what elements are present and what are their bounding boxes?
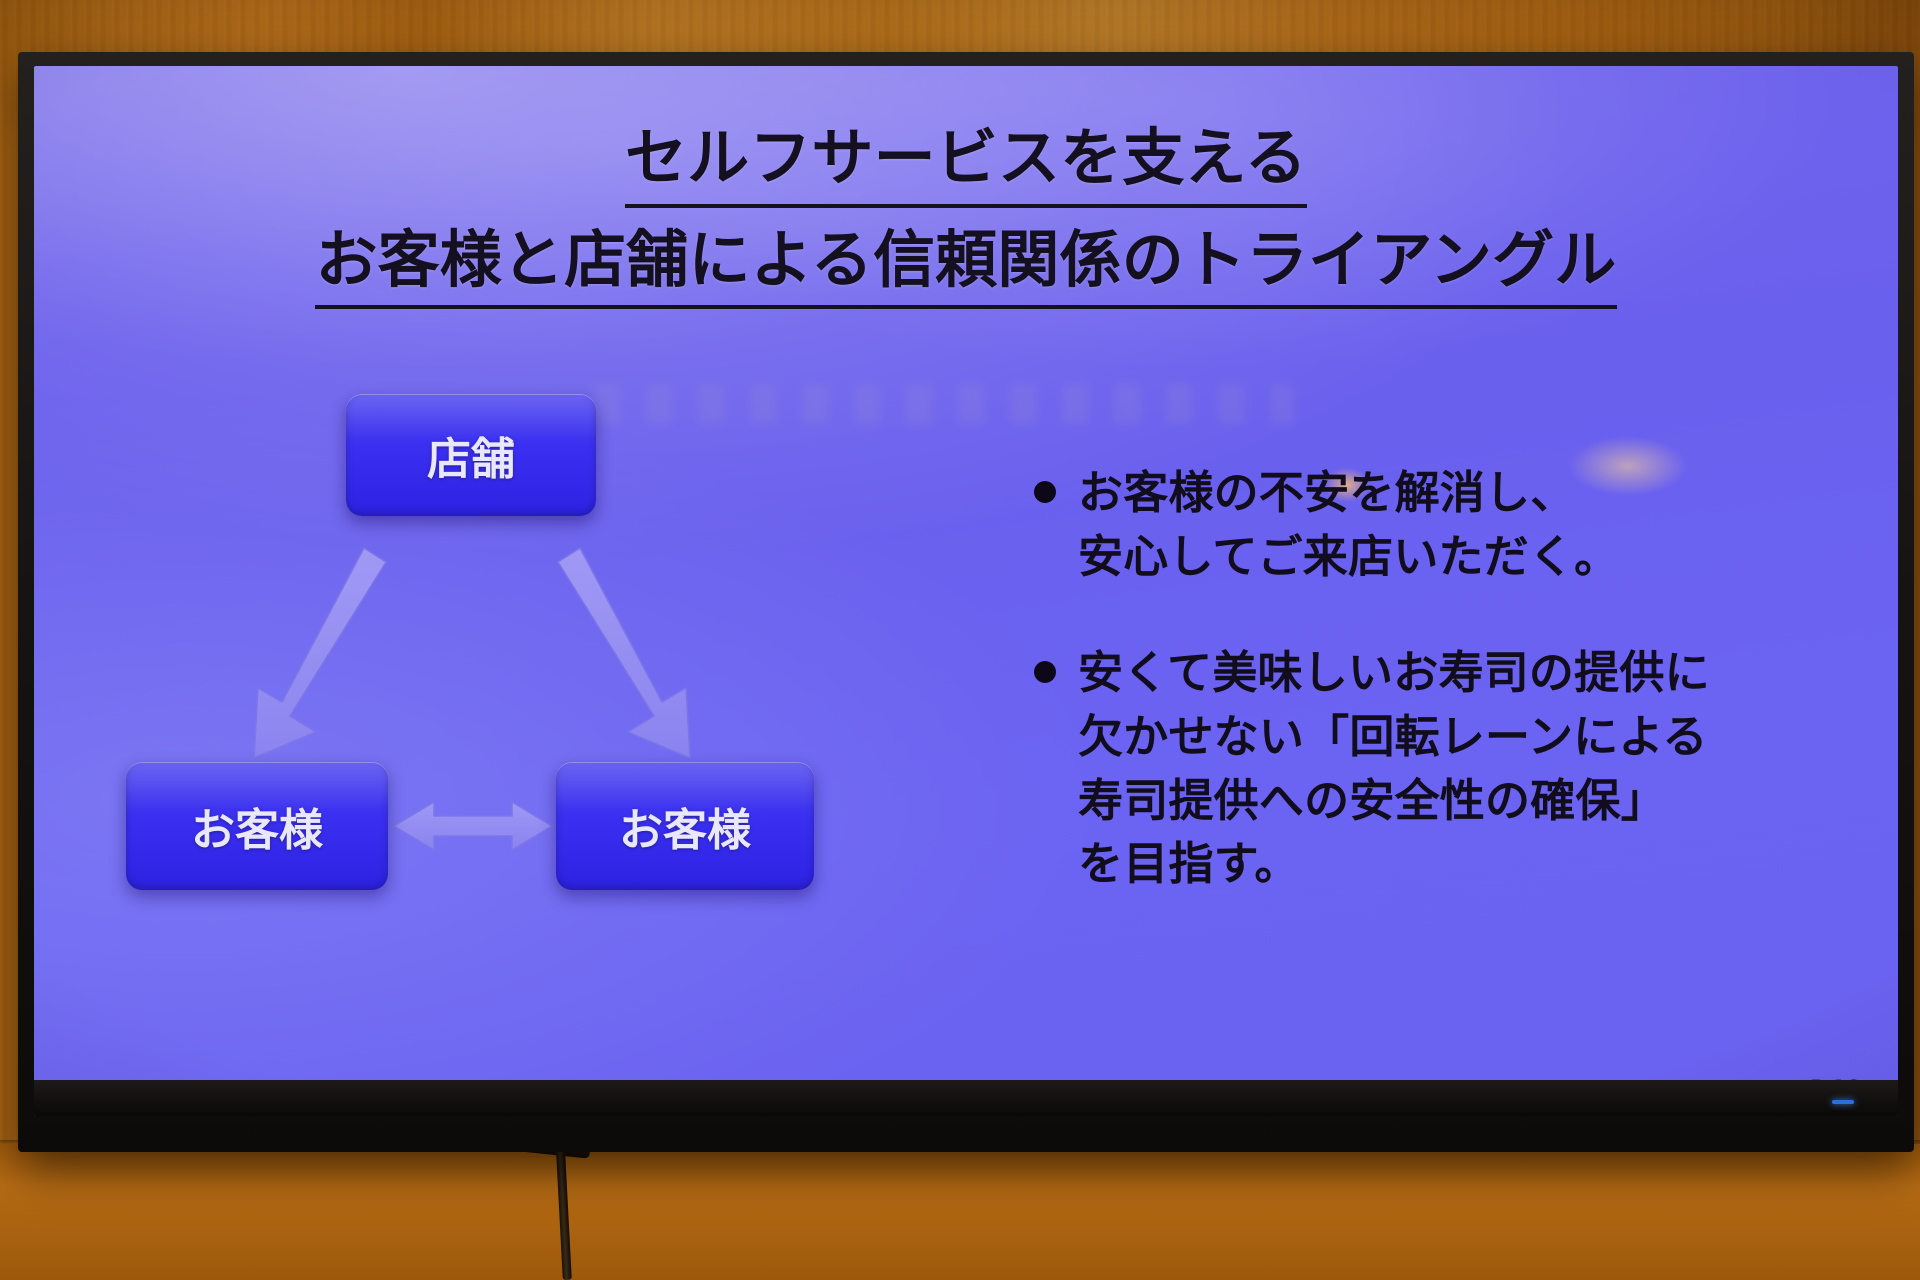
title-line-1: セルフサービスを支える <box>625 120 1307 208</box>
television-display: セルフサービスを支える お客様と店舗による信頼関係のトライアングル <box>18 52 1914 1152</box>
bullet-text: お客様の不安を解消し、 安心してご来店いただく。 <box>1078 461 1619 589</box>
tv-bottom-bezel <box>34 1080 1898 1116</box>
diagram-node-store-label: 店舗 <box>427 423 515 487</box>
bullet-item: お客様の不安を解消し、 安心してご来店いただく。 <box>1034 461 1834 589</box>
diagram-node-customer-right[interactable]: お客様 <box>556 762 814 890</box>
bullet-2-line-4: を目指す。 <box>1078 832 1710 896</box>
bullet-2-line-2: 欠かせない「回転レーンによる <box>1078 705 1710 769</box>
bullet-dot-icon <box>1034 481 1056 503</box>
bullet-item: 安くて美味しいお寿司の提供に 欠かせない「回転レーンによる 寿司提供への安全性の… <box>1034 641 1834 897</box>
title-line-2: お客様と店舗による信頼関係のトライアングル <box>315 222 1616 310</box>
bullet-1-line-1: お客様の不安を解消し、 <box>1078 461 1619 525</box>
bullet-text: 安くて美味しいお寿司の提供に 欠かせない「回転レーンによる 寿司提供への安全性の… <box>1078 641 1710 897</box>
bullet-dot-icon <box>1034 661 1056 683</box>
arrow-store-to-customer-right <box>558 548 690 758</box>
bullet-list: お客様の不安を解消し、 安心してご来店いただく。 安くて美味しいお寿司の提供に … <box>1034 461 1834 948</box>
display-screen: セルフサービスを支える お客様と店舗による信頼関係のトライアングル <box>34 66 1898 1116</box>
wall-lower-panel <box>0 1144 1920 1280</box>
slide-title: セルフサービスを支える お客様と店舗による信頼関係のトライアングル <box>34 120 1898 309</box>
power-led-indicator <box>1832 1100 1854 1104</box>
diagram-node-customer-left[interactable]: お客様 <box>126 762 388 890</box>
bullet-2-line-1: 安くて美味しいお寿司の提供に <box>1078 641 1710 705</box>
trust-triangle-diagram: 店舗 お客様 お客様 <box>94 366 934 966</box>
room-scene: セルフサービスを支える お客様と店舗による信頼関係のトライアングル <box>0 0 1920 1280</box>
arrow-customer-to-customer <box>394 802 552 850</box>
bullet-2-line-3: 寿司提供への安全性の確保」 <box>1078 769 1710 833</box>
diagram-node-customer-right-label: お客様 <box>619 794 751 858</box>
diagram-node-customer-left-label: お客様 <box>191 794 323 858</box>
presentation-slide: セルフサービスを支える お客様と店舗による信頼関係のトライアングル <box>34 66 1898 1116</box>
arrow-store-to-customer-left <box>254 548 386 758</box>
bullet-1-line-2: 安心してご来店いただく。 <box>1078 525 1619 589</box>
diagram-node-store[interactable]: 店舗 <box>346 394 596 516</box>
